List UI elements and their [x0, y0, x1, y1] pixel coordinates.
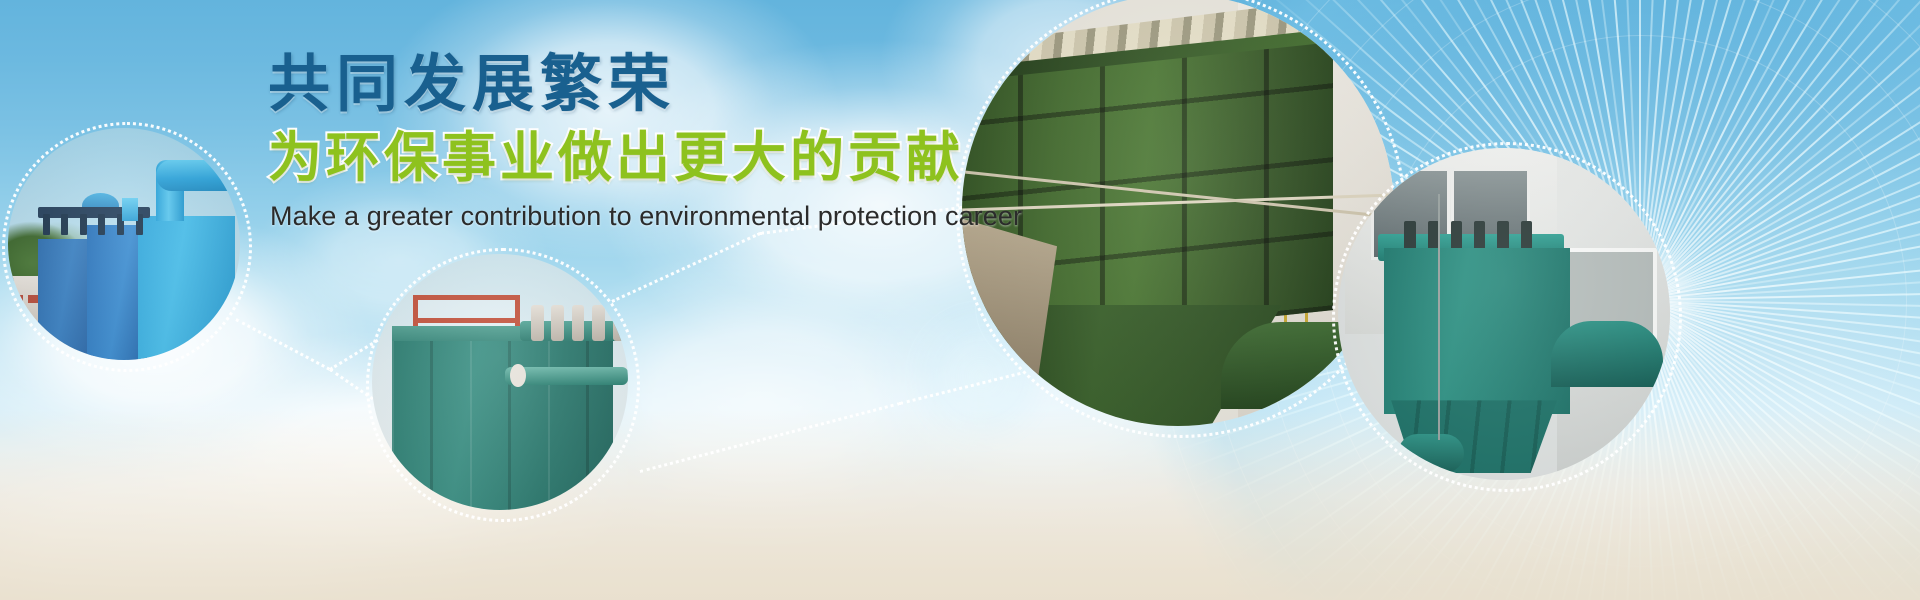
banner-copy: 共同发展繁荣 为环保事业做出更大的贡献 Make a greater contr…	[268, 52, 1028, 232]
photo-circle-blue-dust-collector[interactable]	[8, 128, 240, 360]
subheadline-chinese: 为环保事业做出更大的贡献	[268, 129, 1028, 187]
photo-blue-dust-collector	[8, 128, 240, 360]
photo-circle-teal-plant-dust-collector[interactable]	[1338, 148, 1670, 480]
photo-circle-teal-dust-collector[interactable]	[372, 254, 628, 510]
photo-grain	[1338, 148, 1670, 480]
photo-teal-dust-collector	[372, 254, 628, 510]
hero-banner: 共同发展繁荣 为环保事业做出更大的贡献 Make a greater contr…	[0, 0, 1920, 600]
headline-chinese: 共同发展繁荣	[268, 52, 1028, 119]
photo-grain	[8, 128, 240, 360]
photo-teal-plant-dust-collector	[1338, 148, 1670, 480]
photo-grain	[372, 254, 628, 510]
tagline-english: Make a greater contribution to environme…	[270, 201, 1028, 232]
